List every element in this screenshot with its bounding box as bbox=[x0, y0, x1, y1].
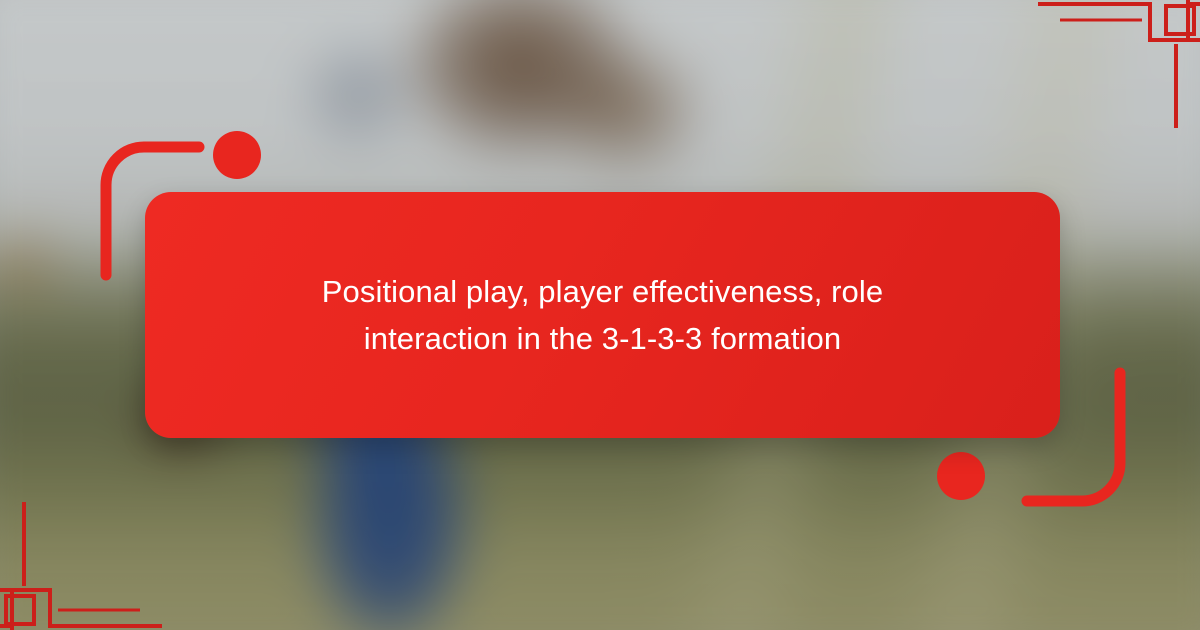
title-card: Positional play, player effectiveness, r… bbox=[145, 192, 1060, 438]
page-title: Positional play, player effectiveness, r… bbox=[253, 268, 953, 362]
accent-dot-top-left bbox=[213, 131, 261, 179]
circuit-bottom-left-icon bbox=[0, 502, 162, 630]
circuit-top-right-icon bbox=[1038, 0, 1200, 128]
share-card-canvas: Positional play, player effectiveness, r… bbox=[0, 0, 1200, 630]
accent-dot-bottom-right bbox=[937, 452, 985, 500]
